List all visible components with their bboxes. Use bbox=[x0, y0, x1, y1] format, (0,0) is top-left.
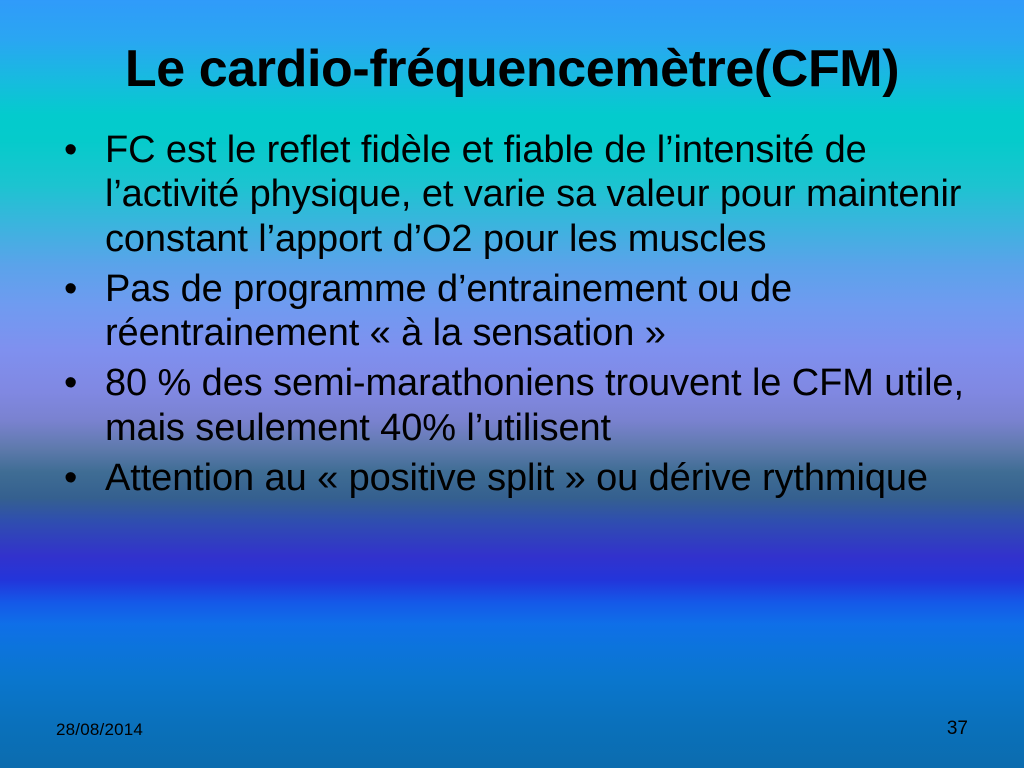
slide-footer: 28/08/2014 37 bbox=[0, 712, 1024, 768]
list-item-label: FC est le reflet fidèle et fiable de l’i… bbox=[105, 128, 986, 261]
list-item: • FC est le reflet fidèle et fiable de l… bbox=[56, 128, 986, 261]
slide-number: 37 bbox=[947, 718, 968, 740]
list-item-label: Attention au « positive split » ou dériv… bbox=[105, 456, 986, 500]
presentation-slide: Le cardio-fréquencemètre(CFM) • FC est l… bbox=[0, 0, 1024, 768]
bullet-point-icon: • bbox=[64, 128, 94, 172]
slide-body-placeholder: • FC est le reflet fidèle et fiable de l… bbox=[56, 128, 986, 506]
list-item-label: 80 % des semi-marathoniens trouvent le C… bbox=[105, 361, 986, 450]
list-item: • 80 % des semi-marathoniens trouvent le… bbox=[56, 361, 986, 450]
bullet-point-icon: • bbox=[64, 267, 94, 311]
list-item: • Attention au « positive split » ou dér… bbox=[56, 456, 986, 500]
footer-date: 28/08/2014 bbox=[56, 720, 143, 740]
bullet-point-icon: • bbox=[64, 456, 94, 500]
list-item: • Pas de programme d’entrainement ou de … bbox=[56, 267, 986, 356]
slide-title-placeholder: Le cardio-fréquencemètre(CFM) bbox=[56, 30, 968, 108]
list-item-label: Pas de programme d’entrainement ou de ré… bbox=[105, 267, 986, 356]
page-title: Le cardio-fréquencemètre(CFM) bbox=[125, 42, 899, 97]
bullet-point-icon: • bbox=[64, 361, 94, 405]
